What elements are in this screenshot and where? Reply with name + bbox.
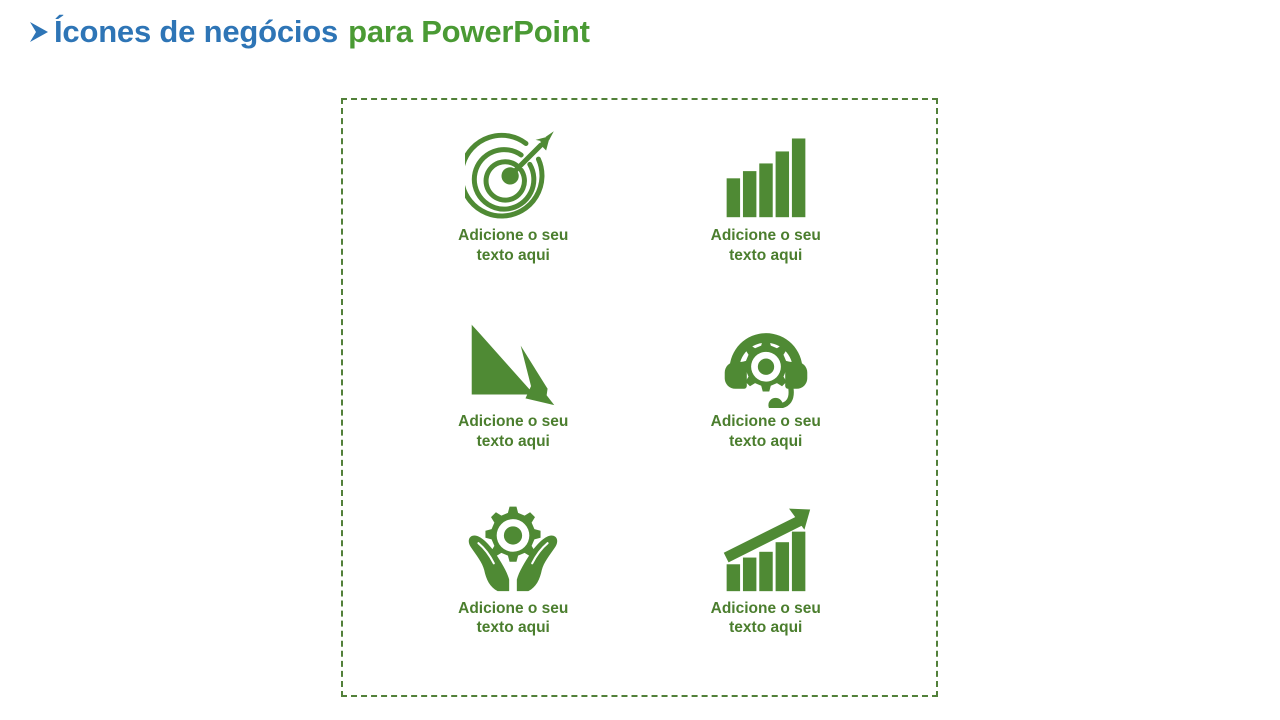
icon-cell-target[interactable]: Adicione o seu texto aqui xyxy=(387,126,640,312)
page-title-primary: Ícones de negócios xyxy=(54,14,338,50)
growth-chart-arrow-icon xyxy=(718,499,814,595)
icon-cell-declining-chart[interactable]: Adicione o seu texto aqui xyxy=(387,312,640,498)
icon-caption: Adicione o seu texto aqui xyxy=(701,599,831,638)
icon-caption: Adicione o seu texto aqui xyxy=(448,599,578,638)
target-arrow-icon xyxy=(465,126,561,222)
page-title: Ícones de negócios para PowerPoint xyxy=(28,14,590,50)
icon-cell-growth-chart[interactable]: Adicione o seu texto aqui xyxy=(640,499,893,685)
icon-caption: Adicione o seu texto aqui xyxy=(701,226,831,265)
icon-caption: Adicione o seu texto aqui xyxy=(701,412,831,451)
headset-gear-support-icon xyxy=(718,312,814,408)
page-title-secondary: para PowerPoint xyxy=(348,14,590,50)
icon-cell-hands-gear[interactable]: Adicione o seu texto aqui xyxy=(387,499,640,685)
icon-cell-support-headset[interactable]: Adicione o seu texto aqui xyxy=(640,312,893,498)
icon-cell-bar-chart[interactable]: Adicione o seu texto aqui xyxy=(640,126,893,312)
icon-caption: Adicione o seu texto aqui xyxy=(448,226,578,265)
bar-chart-icon xyxy=(718,126,814,222)
icon-grid: Adicione o seu texto aqui Adicione o seu… xyxy=(343,100,936,695)
icon-board: Adicione o seu texto aqui Adicione o seu… xyxy=(341,98,938,697)
hands-holding-gear-icon xyxy=(465,499,561,595)
icon-caption: Adicione o seu texto aqui xyxy=(448,412,578,451)
arrow-bullet-icon xyxy=(28,19,50,45)
declining-chart-arrow-icon xyxy=(465,312,561,408)
